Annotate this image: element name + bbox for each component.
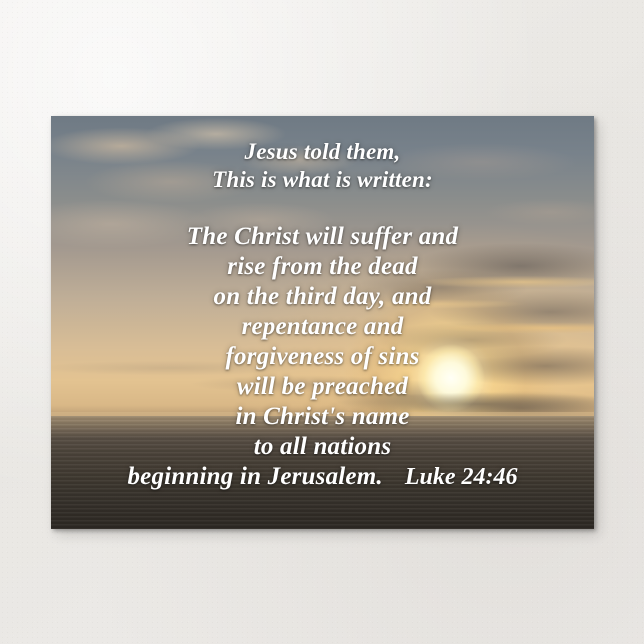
verse-final-line: beginning in Jerusalem. bbox=[127, 462, 382, 492]
verse-body-line-8: to all nations bbox=[51, 432, 594, 462]
verse-paragraph-gap bbox=[51, 194, 594, 222]
verse-text-overlay: Jesus told them, This is what is written… bbox=[51, 116, 594, 529]
verse-body-line-6: will be preached bbox=[51, 372, 594, 402]
bible-verse-postcard[interactable]: Jesus told them, This is what is written… bbox=[51, 116, 594, 529]
verse-body-line-7: in Christ's name bbox=[51, 402, 594, 432]
verse-body-line-2: rise from the dead bbox=[51, 252, 594, 282]
verse-body-line-5: forgiveness of sins bbox=[51, 342, 594, 372]
verse-body-line-1: The Christ will suffer and bbox=[51, 222, 594, 252]
verse-lead-line-1: Jesus told them, bbox=[51, 138, 594, 166]
verse-body-line-4: repentance and bbox=[51, 312, 594, 342]
verse-lead-line-2: This is what is written: bbox=[51, 166, 594, 194]
verse-final-line-row: beginning in Jerusalem. Luke 24:46 bbox=[51, 462, 594, 492]
verse-reference: Luke 24:46 bbox=[405, 462, 518, 492]
verse-body-line-3: on the third day, and bbox=[51, 282, 594, 312]
